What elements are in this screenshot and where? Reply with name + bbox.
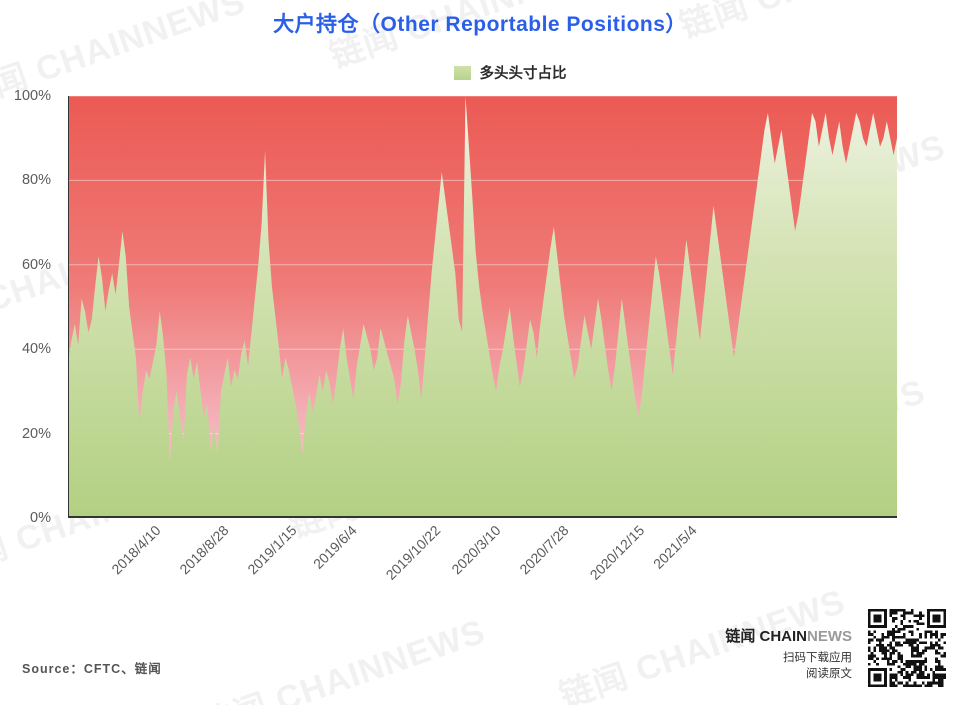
chart-title: 大户持仓（Other Reportable Positions） [0,8,960,38]
legend-label: 多头头寸占比 [480,62,567,83]
brand-name-cn: 链闻 [725,628,759,645]
x-axis-tick-label: 2018/4/10 [108,522,163,577]
area-chart-svg [68,96,897,518]
x-axis-tick-label: 2021/5/4 [650,522,700,572]
x-axis-tick-label: 2020/3/10 [448,522,503,577]
y-axis-tick-label: 60% [0,257,60,273]
y-axis-tick-label: 0% [0,510,60,526]
watermark-text: 链闻 CHAINNEWS [192,604,491,705]
x-axis-tick-label: 2019/10/22 [382,522,443,583]
y-axis-tick-label: 20% [0,426,60,442]
brand-name-news: NEWS [807,628,852,645]
x-axis-tick-label: 2019/1/15 [244,522,299,577]
qr-code-icon[interactable] [868,609,946,687]
source-note: Source：CFTC、链闻 [22,658,162,677]
brand-subline-readmore: 阅读原文 [725,666,852,683]
x-axis-labels: 2018/4/102018/8/282019/1/152019/6/42019/… [68,518,897,608]
x-axis-tick-label: 2020/12/15 [586,522,647,583]
chart-plot-area [68,96,897,518]
x-axis-tick-label: 2018/8/28 [176,522,231,577]
brand-subline-download: 扫码下载应用 [725,650,852,667]
y-axis-tick-label: 80% [0,172,60,188]
brand-name-chain: CHAIN [760,628,808,645]
brand-name: 链闻 CHAINNEWS [725,625,852,646]
y-axis-labels: 0%20%40%60%80%100% [0,96,60,518]
x-axis-tick-label: 2020/7/28 [516,522,571,577]
y-axis-tick-label: 40% [0,341,60,357]
y-axis-tick-label: 100% [0,88,60,104]
x-axis-tick-label: 2019/6/4 [310,522,360,572]
brand-block: 链闻 CHAINNEWS 扫码下载应用 阅读原文 [725,625,852,683]
qr-code-svg [868,609,946,687]
chart-legend: 多头头寸占比 [0,62,960,83]
legend-swatch-icon [454,66,471,80]
